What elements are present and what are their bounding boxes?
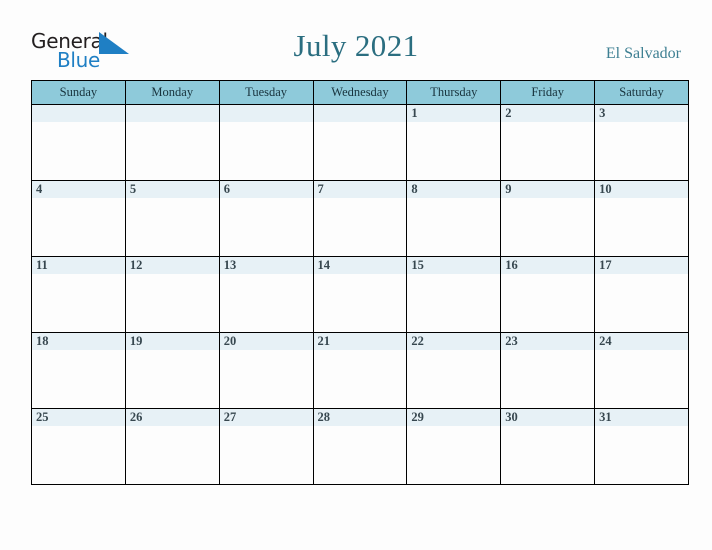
calendar-day-cell[interactable] (313, 105, 407, 181)
day-number: 30 (501, 409, 594, 426)
calendar-day-cell[interactable]: 28 (313, 409, 407, 485)
day-number: 19 (126, 333, 219, 350)
calendar-day-cell[interactable]: 11 (32, 257, 126, 333)
calendar-day-cell[interactable]: 8 (407, 181, 501, 257)
day-events-area[interactable] (220, 274, 313, 332)
day-number: 3 (595, 105, 688, 122)
day-number (314, 105, 407, 122)
calendar-day-cell[interactable]: 27 (219, 409, 313, 485)
day-number: 27 (220, 409, 313, 426)
day-events-area[interactable] (220, 198, 313, 256)
day-number: 23 (501, 333, 594, 350)
day-number: 5 (126, 181, 219, 198)
calendar-day-cell[interactable]: 12 (125, 257, 219, 333)
day-number: 13 (220, 257, 313, 274)
day-events-area[interactable] (32, 122, 125, 180)
day-events-area[interactable] (501, 122, 594, 180)
day-events-area[interactable] (126, 122, 219, 180)
calendar-body: 1 2 3 4 5 6 7 8 9 10 11 12 13 14 (32, 105, 689, 485)
day-number: 18 (32, 333, 125, 350)
day-events-area[interactable] (501, 274, 594, 332)
day-events-area[interactable] (314, 274, 407, 332)
calendar-week-row: 1 2 3 (32, 105, 689, 181)
day-number: 26 (126, 409, 219, 426)
weekday-header-saturday: Saturday (595, 81, 689, 105)
day-number: 28 (314, 409, 407, 426)
calendar-day-cell[interactable]: 7 (313, 181, 407, 257)
day-events-area[interactable] (595, 198, 688, 256)
calendar-day-cell[interactable]: 9 (501, 181, 595, 257)
day-events-area[interactable] (314, 350, 407, 408)
calendar-day-cell[interactable]: 16 (501, 257, 595, 333)
calendar-header-row-group: Sunday Monday Tuesday Wednesday Thursday… (32, 81, 689, 105)
calendar-day-cell[interactable]: 22 (407, 333, 501, 409)
day-events-area[interactable] (501, 198, 594, 256)
day-number: 10 (595, 181, 688, 198)
calendar-day-cell[interactable]: 4 (32, 181, 126, 257)
day-events-area[interactable] (314, 426, 407, 484)
weekday-header-thursday: Thursday (407, 81, 501, 105)
day-events-area[interactable] (595, 426, 688, 484)
day-events-area[interactable] (314, 198, 407, 256)
calendar-day-cell[interactable]: 13 (219, 257, 313, 333)
calendar-day-cell[interactable]: 2 (501, 105, 595, 181)
day-events-area[interactable] (32, 350, 125, 408)
day-number (32, 105, 125, 122)
day-number: 1 (407, 105, 500, 122)
calendar-day-cell[interactable]: 23 (501, 333, 595, 409)
day-number: 8 (407, 181, 500, 198)
calendar-week-row: 4 5 6 7 8 9 10 (32, 181, 689, 257)
calendar-week-row: 25 26 27 28 29 30 31 (32, 409, 689, 485)
weekday-header-row: Sunday Monday Tuesday Wednesday Thursday… (32, 81, 689, 105)
day-number: 7 (314, 181, 407, 198)
day-number: 11 (32, 257, 125, 274)
day-events-area[interactable] (595, 350, 688, 408)
calendar-day-cell[interactable]: 3 (595, 105, 689, 181)
calendar-day-cell[interactable]: 17 (595, 257, 689, 333)
weekday-header-friday: Friday (501, 81, 595, 105)
calendar-day-cell[interactable]: 15 (407, 257, 501, 333)
day-number: 25 (32, 409, 125, 426)
day-events-area[interactable] (126, 426, 219, 484)
weekday-header-wednesday: Wednesday (313, 81, 407, 105)
calendar-day-cell[interactable]: 18 (32, 333, 126, 409)
day-number: 21 (314, 333, 407, 350)
day-number (220, 105, 313, 122)
day-events-area[interactable] (32, 274, 125, 332)
calendar-day-cell[interactable]: 1 (407, 105, 501, 181)
day-events-area[interactable] (501, 350, 594, 408)
calendar-day-cell[interactable]: 5 (125, 181, 219, 257)
calendar-day-cell[interactable]: 21 (313, 333, 407, 409)
day-events-area[interactable] (126, 198, 219, 256)
calendar-day-cell[interactable]: 29 (407, 409, 501, 485)
day-events-area[interactable] (501, 426, 594, 484)
day-number: 22 (407, 333, 500, 350)
calendar-page: General Blue July 2021 El Salvador Sunda… (0, 0, 712, 550)
country-label: El Salvador (606, 45, 681, 63)
day-number (126, 105, 219, 122)
day-events-area[interactable] (407, 274, 500, 332)
day-events-area[interactable] (407, 198, 500, 256)
day-number: 4 (32, 181, 125, 198)
day-events-area[interactable] (595, 274, 688, 332)
day-events-area[interactable] (220, 426, 313, 484)
day-number: 15 (407, 257, 500, 274)
day-number: 6 (220, 181, 313, 198)
day-events-area[interactable] (407, 122, 500, 180)
calendar-day-cell[interactable]: 30 (501, 409, 595, 485)
day-number: 12 (126, 257, 219, 274)
calendar-day-cell[interactable]: 26 (125, 409, 219, 485)
day-events-area[interactable] (32, 426, 125, 484)
day-number: 24 (595, 333, 688, 350)
calendar-day-cell[interactable] (219, 105, 313, 181)
day-number: 16 (501, 257, 594, 274)
day-events-area[interactable] (595, 122, 688, 180)
weekday-header-tuesday: Tuesday (219, 81, 313, 105)
calendar-week-row: 18 19 20 21 22 23 24 (32, 333, 689, 409)
page-header: General Blue July 2021 El Salvador (0, 0, 712, 80)
calendar-day-cell[interactable]: 19 (125, 333, 219, 409)
calendar-day-cell[interactable] (32, 105, 126, 181)
day-events-area[interactable] (126, 350, 219, 408)
calendar-day-cell[interactable]: 6 (219, 181, 313, 257)
calendar-day-cell[interactable]: 10 (595, 181, 689, 257)
day-events-area[interactable] (126, 274, 219, 332)
day-number: 14 (314, 257, 407, 274)
day-events-area[interactable] (220, 350, 313, 408)
calendar-week-row: 11 12 13 14 15 16 17 (32, 257, 689, 333)
day-number: 17 (595, 257, 688, 274)
calendar-table: Sunday Monday Tuesday Wednesday Thursday… (31, 80, 689, 485)
calendar-container: Sunday Monday Tuesday Wednesday Thursday… (31, 80, 681, 485)
calendar-day-cell[interactable]: 31 (595, 409, 689, 485)
calendar-day-cell[interactable]: 25 (32, 409, 126, 485)
weekday-header-sunday: Sunday (32, 81, 126, 105)
weekday-header-monday: Monday (125, 81, 219, 105)
day-number: 29 (407, 409, 500, 426)
day-events-area[interactable] (314, 122, 407, 180)
day-events-area[interactable] (407, 426, 500, 484)
day-number: 9 (501, 181, 594, 198)
calendar-day-cell[interactable]: 24 (595, 333, 689, 409)
day-events-area[interactable] (220, 122, 313, 180)
calendar-day-cell[interactable] (125, 105, 219, 181)
day-events-area[interactable] (32, 198, 125, 256)
calendar-day-cell[interactable]: 14 (313, 257, 407, 333)
day-number: 20 (220, 333, 313, 350)
calendar-day-cell[interactable]: 20 (219, 333, 313, 409)
day-events-area[interactable] (407, 350, 500, 408)
day-number: 2 (501, 105, 594, 122)
day-number: 31 (595, 409, 688, 426)
